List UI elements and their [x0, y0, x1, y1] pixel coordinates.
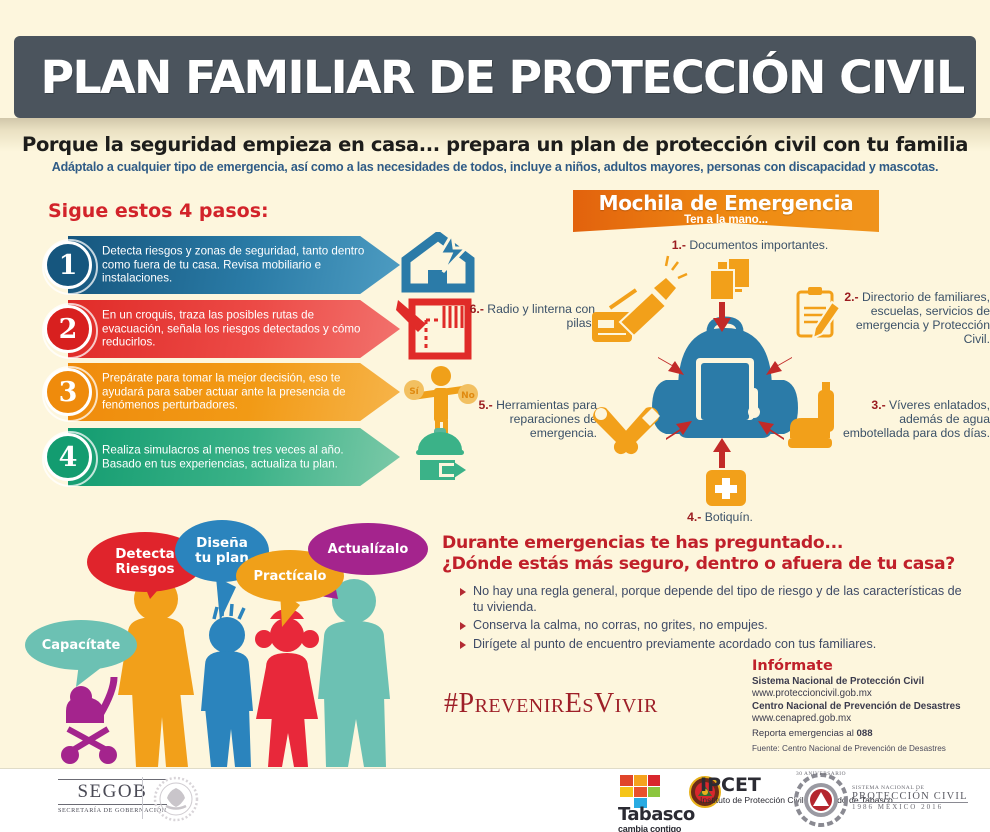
informate-report-prefix: Reporta emergencias al — [752, 728, 857, 739]
mother-figure — [118, 577, 194, 767]
backpack-diagram: 1.- Documentos importantes. 2.- Director… — [460, 230, 990, 530]
backpack-banner-subtitle: Ten a la mano... — [573, 214, 879, 226]
emergency-bullet-list: No hay una regla general, porque depende… — [460, 584, 970, 655]
step-icon-si-label: Sí — [409, 387, 419, 397]
tabasco-logo-name: Tabasco — [618, 805, 695, 824]
bubble-detecta-riesgos-label: Detecta Riesgos — [115, 547, 175, 577]
step-2-text: En un croquis, traza las posibles rutas … — [102, 309, 372, 350]
family-illustration: Detecta Riesgos Diseña tu plan Practícal… — [8, 515, 438, 780]
stroller-figure — [61, 677, 117, 764]
page-title: PLAN FAMILIAR DE PROTECCIÓN CIVIL — [14, 51, 964, 104]
pc-logo-line2: PROTECCIÓN CIVIL — [852, 791, 968, 803]
segob-logo-sub: SECRETARÍA DE GOBERNACIÓN — [58, 807, 167, 814]
step-1-number: 1 — [44, 241, 92, 289]
documents-icon — [710, 258, 750, 300]
informate-report-number: 088 — [857, 728, 873, 739]
list-item: Conserva la calma, no corras, no grites,… — [460, 618, 970, 634]
proteccion-civil-30-aniversario-icon — [792, 773, 850, 827]
footer-divider — [142, 777, 143, 819]
backpack-icon — [652, 320, 798, 438]
step-1: 1 Detecta riesgos y zonas de seguridad, … — [44, 236, 400, 294]
floorplan-pencil-icon — [396, 300, 468, 356]
bubble-actualizalo-label: Actualízalo — [328, 542, 409, 557]
step-2-number: 2 — [44, 305, 92, 353]
bubble-disena-tu-plan-label: Diseña tu plan — [195, 536, 249, 566]
clipboard-pencil-icon — [798, 287, 840, 338]
steps-title: Sigue estos 4 pasos: — [48, 200, 269, 222]
list-item: No hay una regla general, porque depende… — [460, 584, 970, 615]
step-4-number: 4 — [44, 433, 92, 481]
step-2: 2 En un croquis, traza las posibles ruta… — [44, 300, 400, 358]
bubble-capacitate-label: Capacítate — [42, 638, 121, 653]
step-4: 4 Realiza simulacros al menos tres veces… — [44, 428, 400, 486]
emergency-heading-line1: Durante emergencias te has preguntado... — [442, 533, 955, 554]
boy-figure — [201, 604, 253, 767]
informate-org-2: Centro Nacional de Prevención de Desastr… — [752, 701, 990, 713]
step-4-text: Realiza simulacros al menos tres veces a… — [102, 443, 372, 470]
emergency-heading-line2: ¿Dónde estás más seguro, dentro o afuera… — [442, 554, 955, 575]
bubble-capacitate: Capacítate — [25, 620, 137, 670]
backpack-icons-svg — [460, 230, 990, 530]
girl-figure — [255, 609, 319, 767]
backpack-banner-title: Mochila de Emergencia — [573, 190, 879, 215]
header-tagline: Adáptalo a cualquier tipo de emergencia,… — [0, 160, 990, 174]
list-item: Dirígete al punto de encuentro previamen… — [460, 637, 970, 653]
pc-logo-line3: 1986 MÉXICO 2016 — [852, 803, 968, 811]
tabasco-logo-sub: cambia contigo — [618, 824, 695, 832]
pc-anniversary-label: 30 ANIVERSARIO — [792, 771, 850, 777]
radio-flashlight-icon — [592, 256, 687, 342]
mexico-eagle-seal-icon — [152, 775, 200, 823]
bubble-practicalo-label: Practícalo — [254, 569, 327, 584]
bubble-tail-disena — [216, 577, 236, 621]
step-3-text: Prepárate para tomar la mejor decisión, … — [102, 372, 372, 413]
tools-wrench-icon — [593, 407, 660, 454]
step-3: 3 Prepárate para tomar la mejor decisión… — [44, 363, 400, 421]
proteccion-civil-logo-text: SISTEMA NACIONAL DE PROTECCIÓN CIVIL 198… — [852, 785, 968, 811]
step-3-number: 3 — [44, 368, 92, 416]
first-aid-kit-icon — [706, 470, 746, 506]
informate-heading: Infórmate — [752, 658, 990, 674]
informate-org-1: Sistema Nacional de Protección Civil — [752, 676, 990, 688]
informate-report-line: Reporta emergencias al 088 — [752, 728, 990, 740]
informate-block: Infórmate Sistema Nacional de Protección… — [752, 658, 990, 754]
header-subtitle: Porque la seguridad empieza en casa... p… — [0, 133, 990, 156]
infographic-poster: PLAN FAMILIAR DE PROTECCIÓN CIVIL Porque… — [0, 0, 990, 832]
header-bar: PLAN FAMILIAR DE PROTECCIÓN CIVIL — [14, 36, 976, 118]
segob-logo-name: SEGOB — [58, 779, 167, 805]
hashtag: #PrevenirEsVivir — [444, 688, 658, 720]
backpack-banner: Mochila de Emergencia Ten a la mano... — [573, 190, 879, 232]
segob-logo: SEGOB SECRETARÍA DE GOBERNACIÓN — [58, 779, 167, 814]
informate-url-1[interactable]: www.proteccioncivil.gob.mx — [752, 688, 990, 700]
bubble-actualizalo: Actualízalo — [308, 523, 428, 575]
tabasco-logo-text: Tabasco cambia contigo — [618, 805, 695, 832]
footer-bar: SEGOB SECRETARÍA DE GOBERNACIÓN Tabasco … — [0, 768, 990, 832]
tabasco-t-logo-icon — [618, 774, 662, 808]
emergency-heading: Durante emergencias te has preguntado...… — [442, 533, 955, 575]
informate-source: Fuente: Centro Nacional de Prevención de… — [752, 743, 990, 754]
father-figure — [318, 579, 390, 767]
step-1-text: Detecta riesgos y zonas de seguridad, ta… — [102, 245, 372, 286]
informate-url-2[interactable]: www.cenapred.gob.mx — [752, 713, 990, 725]
